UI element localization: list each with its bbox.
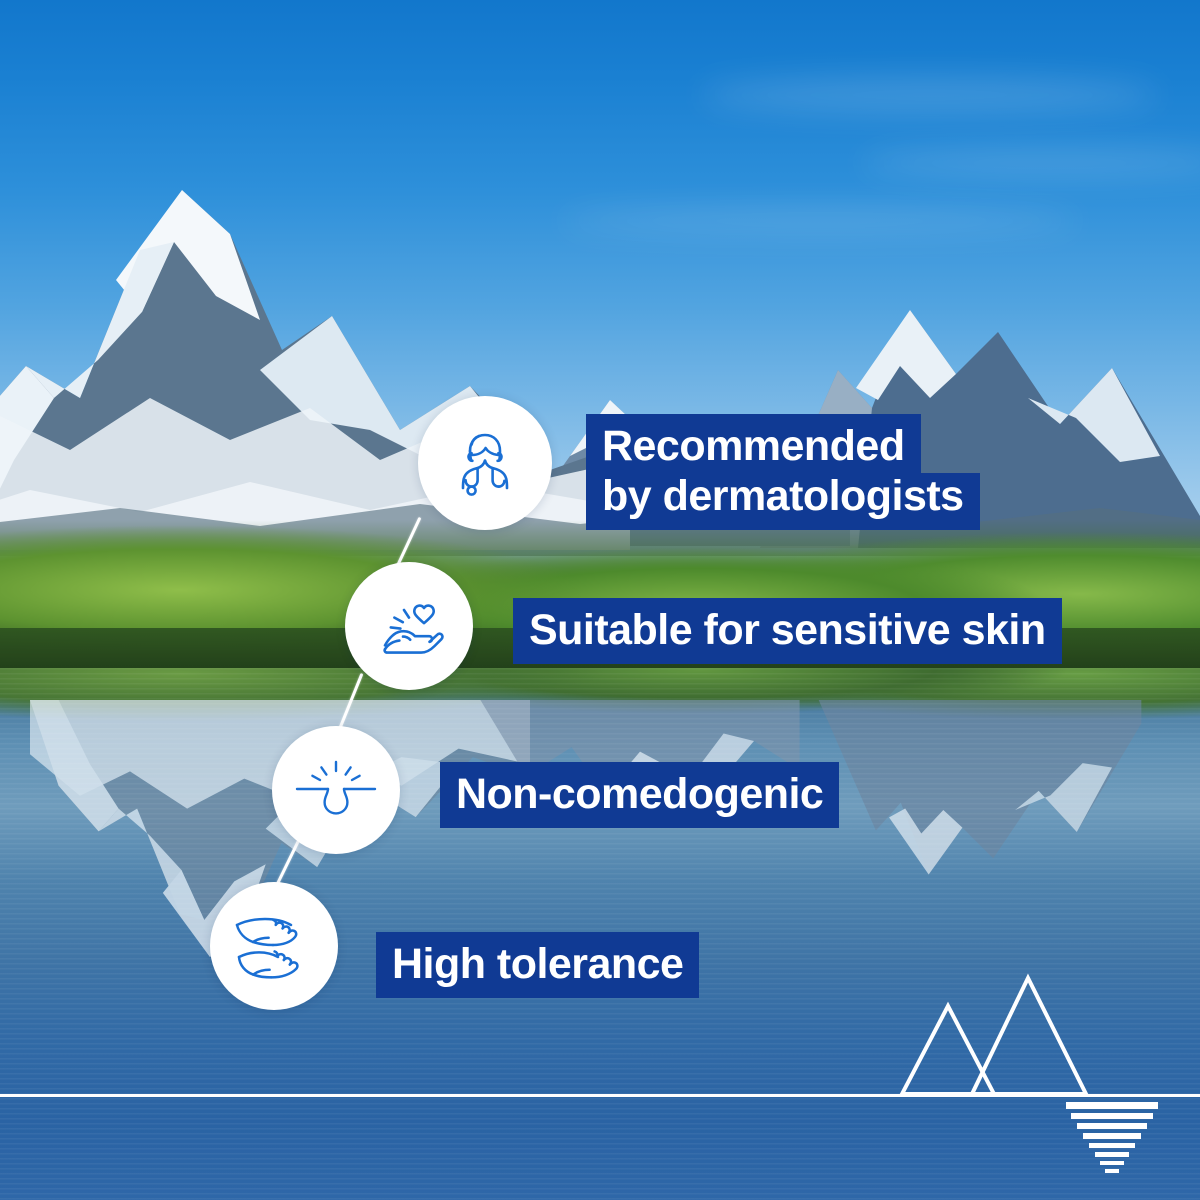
benefit-icon-bubble-2[interactable] [345,562,473,690]
doctor-stethoscope-icon [446,424,524,502]
benefit-label-1: Recommended by dermatologists [586,414,980,530]
benefit-icon-bubble-4[interactable] [210,882,338,1010]
brand-mountain-logo [890,968,1110,1098]
benefit-label-3: Non-comedogenic [440,762,839,828]
benefit-label-1-line-1: Recommended [586,414,921,473]
benefit-icon-bubble-3[interactable] [272,726,400,854]
benefit-label-2-line-1: Suitable for sensitive skin [513,598,1062,664]
benefit-label-4-line-1: High tolerance [376,932,699,998]
benefits-banner: Recommended by dermatologists [0,0,1200,1200]
benefit-icon-bubble-1[interactable] [418,396,552,530]
skin-pore-icon [293,754,379,826]
benefit-label-4: High tolerance [376,932,699,998]
benefit-label-1-line-2: by dermatologists [586,473,980,530]
gentle-hands-icon [231,909,317,983]
benefit-label-2: Suitable for sensitive skin [513,598,1062,664]
benefit-label-3-line-1: Non-comedogenic [440,762,839,828]
hand-heart-icon [369,587,449,665]
brand-reflection-mark [1066,1100,1158,1192]
brand-horizon-line [0,1094,1200,1097]
